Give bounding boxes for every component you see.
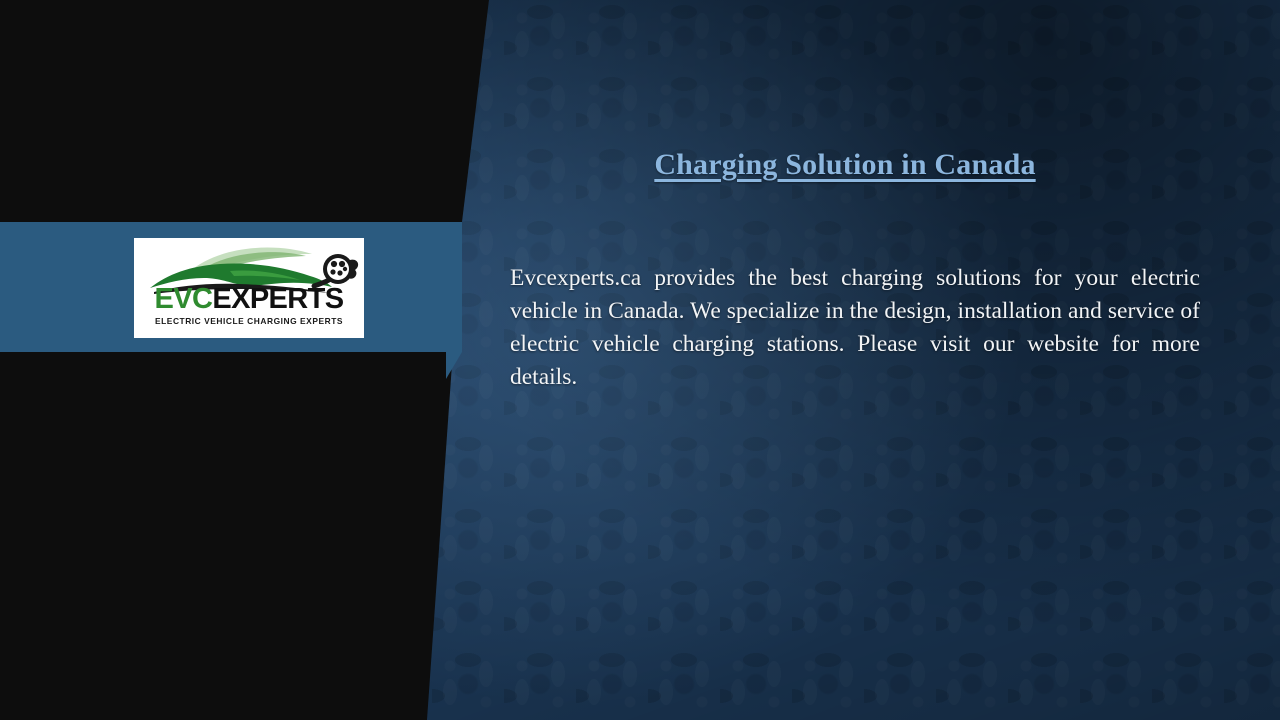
presentation-slide: EVCEXPERTS ELECTRIC VEHICLE CHARGING EXP… (0, 0, 1280, 720)
logo-wordmark-secondary: EXPERTS (212, 283, 343, 315)
slide-title: Charging Solution in Canada (490, 148, 1200, 182)
accent-band-tab (446, 352, 462, 379)
ev-charging-plug-icon (323, 254, 358, 284)
logo-wordmark: EVCEXPERTS (134, 285, 364, 314)
logo-wordmark-primary: EVC (154, 283, 212, 315)
slide-body-text: Evcexperts.ca provides the best charging… (510, 262, 1200, 394)
logo-container: EVCEXPERTS ELECTRIC VEHICLE CHARGING EXP… (134, 238, 364, 338)
logo-tagline: ELECTRIC VEHICLE CHARGING EXPERTS (134, 316, 364, 326)
